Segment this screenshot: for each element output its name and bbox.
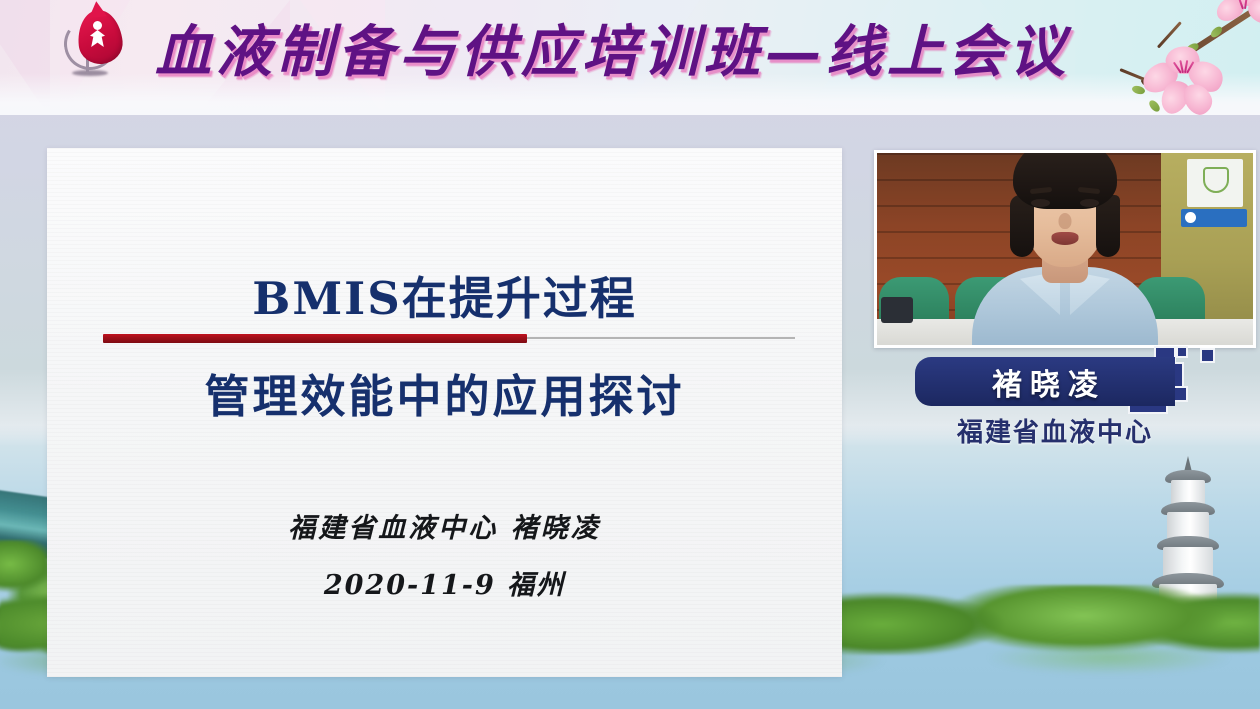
speaker-affiliation: 福建省血液中心: [915, 412, 1195, 449]
divider-thick-bar: [103, 334, 527, 343]
speaker-name-plate: 褚晓凌: [915, 357, 1175, 406]
divider-thin-line: [527, 337, 795, 339]
slide-title-line-1: BMIS在提升过程: [47, 262, 842, 327]
blood-drop-logo: [60, 6, 134, 88]
video-inner-frame: [877, 153, 1253, 345]
cherry-blossom-icon: [1118, 0, 1260, 144]
logo-base: [72, 70, 108, 76]
title-divider-rule: [103, 332, 795, 345]
logo-figure-head: [93, 21, 102, 30]
speaker-name: 褚晓凌: [984, 360, 1106, 404]
slide-title-line-2: 管理效能中的应用探讨: [47, 360, 842, 425]
slide-subtitle-date-location: 2020-11-9 福州: [47, 563, 842, 602]
speaker-person: [970, 155, 1160, 345]
slide-subtitle-author: 福建省血液中心 褚晓凌: [47, 506, 842, 545]
conference-broadcast-screen: 血液制备与供应培训班—线上会议 BM: [0, 0, 1260, 709]
speaker-video-feed[interactable]: [874, 150, 1256, 348]
wall-sign-blue: [1181, 209, 1247, 227]
wall-sign-white: [1187, 159, 1243, 207]
desk-monitor: [881, 297, 913, 323]
presentation-slide[interactable]: BMIS在提升过程 管理效能中的应用探讨 福建省血液中心 褚晓凌 2020-11…: [47, 148, 842, 677]
banner-title: 血液制备与供应培训班—线上会议: [155, 6, 1145, 88]
